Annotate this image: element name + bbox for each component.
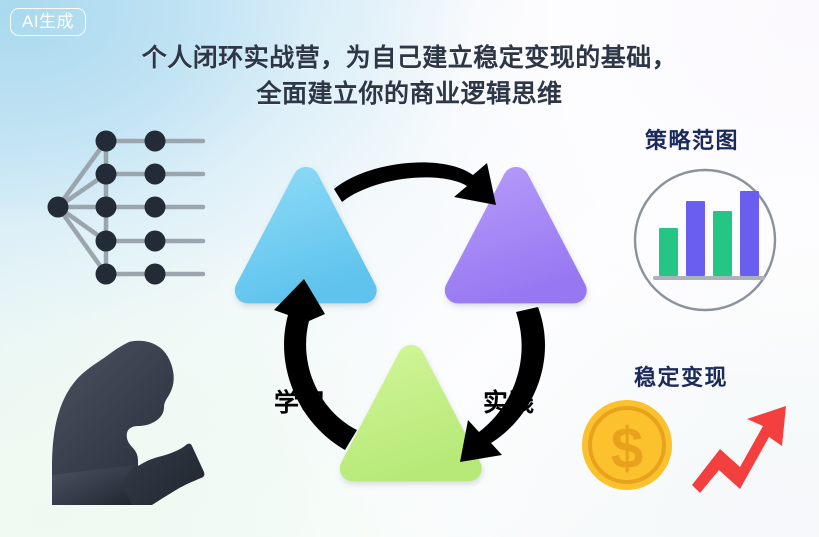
ai-generated-badge: AI生成 xyxy=(10,8,86,36)
bar-2 xyxy=(686,201,705,276)
person-reading-icon xyxy=(28,335,233,515)
chart-baseline xyxy=(653,276,765,280)
bar-4 xyxy=(740,191,759,276)
bar-chart-icon xyxy=(627,165,783,315)
cycle-diagram xyxy=(228,155,628,500)
arrow-monetize-to-learn xyxy=(274,279,357,450)
poster-canvas: AI生成 个人闭环实战营，为自己建立稳定变现的基础， 全面建立你的商业逻辑思维 xyxy=(0,0,819,537)
title-line-1: 个人闭环实战营，为自己建立稳定变现的基础， xyxy=(0,40,819,76)
title-line-2: 全面建立你的商业逻辑思维 xyxy=(0,76,819,112)
money-growth-group: $ xyxy=(577,395,792,495)
arrow-learn-to-practice xyxy=(334,162,496,205)
arrow-practice-to-monetize xyxy=(460,307,545,462)
coin-dollar-symbol: $ xyxy=(611,416,643,481)
gold-coin-dollar-icon: $ xyxy=(582,400,672,490)
chart-bars xyxy=(659,191,759,276)
red-growth-arrow-icon xyxy=(692,406,786,493)
page-title: 个人闭环实战营，为自己建立稳定变现的基础， 全面建立你的商业逻辑思维 xyxy=(0,40,819,113)
bar-1 xyxy=(659,228,678,276)
network-graph-icon xyxy=(38,125,218,290)
bar-3 xyxy=(713,211,732,276)
strategy-chart-label: 策略范图 xyxy=(645,123,739,155)
stable-income-label: 稳定变现 xyxy=(634,360,728,392)
